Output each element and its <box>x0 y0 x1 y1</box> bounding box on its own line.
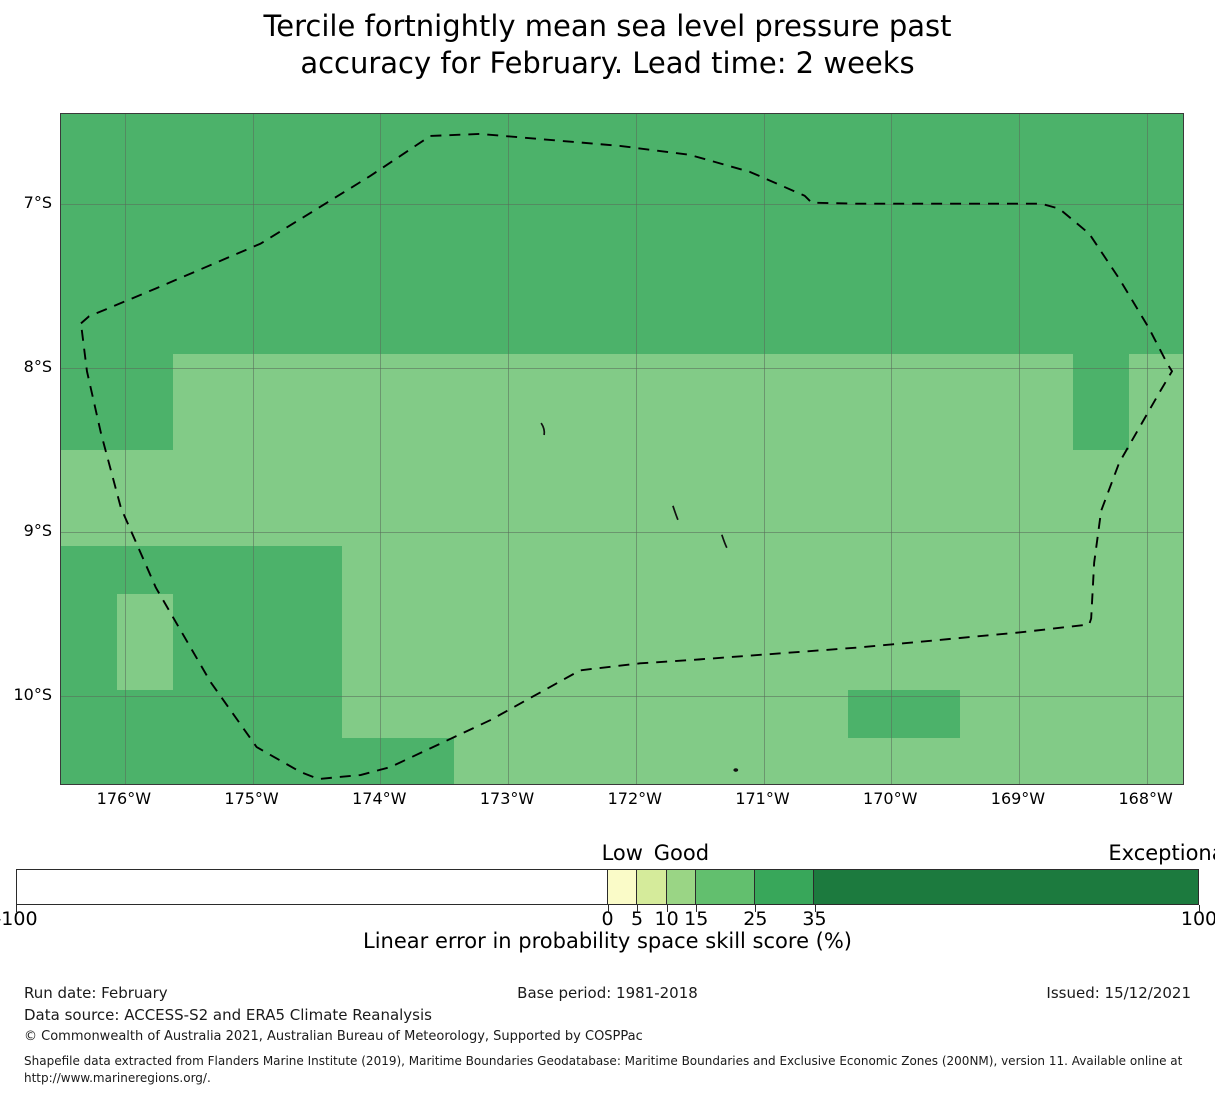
colorbar-axis-label: Linear error in probability space skill … <box>0 929 1215 953</box>
colorbar-segment <box>608 870 638 904</box>
colorbar-segment <box>696 870 755 904</box>
x-tick-label: 175°W <box>207 789 297 808</box>
island-coastline-1 <box>541 423 544 435</box>
copyright-text: © Commonwealth of Australia 2021, Austra… <box>24 1029 643 1044</box>
y-tick-label: 8°S <box>0 357 52 376</box>
colorbar-tick-mark <box>16 905 17 912</box>
colorbar-gradient <box>16 869 1199 905</box>
colorbar <box>16 869 1199 905</box>
title-line-1: Tercile fortnightly mean sea level press… <box>0 8 1215 45</box>
data-source-text: Data source: ACCESS-S2 and ERA5 Climate … <box>24 1006 432 1024</box>
x-tick-label: 174°W <box>334 789 424 808</box>
map-panel <box>60 113 1184 785</box>
colorbar-tick-mark <box>815 905 816 912</box>
colorbar-tick-mark <box>696 905 697 912</box>
x-tick-label: 176°W <box>79 789 169 808</box>
shapefile-attribution: Shapefile data extracted from Flanders M… <box>24 1053 1204 1087</box>
footer-row-2: Data source: ACCESS-S2 and ERA5 Climate … <box>0 1006 1215 1028</box>
colorbar-tick-label: 100 <box>1154 908 1215 930</box>
x-tick-label: 168°W <box>1101 789 1191 808</box>
eez-boundary-path <box>81 134 1172 779</box>
x-tick-label: 173°W <box>462 789 552 808</box>
colorbar-category-exceptional: Exceptional <box>1049 841 1215 865</box>
y-tick-label: 7°S <box>0 193 52 212</box>
colorbar-segment <box>755 870 814 904</box>
island-coastline-4 <box>733 768 738 772</box>
colorbar-tick-mark <box>1199 905 1200 912</box>
y-tick-label: 9°S <box>0 521 52 540</box>
issued-date-text: Issued: 15/12/2021 <box>1046 984 1191 1002</box>
x-tick-label: 170°W <box>845 789 935 808</box>
base-period-text: Base period: 1981-2018 <box>0 984 1215 1002</box>
colorbar-category-good: Good <box>561 841 801 865</box>
page-title: Tercile fortnightly mean sea level press… <box>0 8 1215 82</box>
colorbar-tick-mark <box>755 905 756 912</box>
y-tick-label: 10°S <box>0 685 52 704</box>
x-tick-label: 172°W <box>590 789 680 808</box>
colorbar-tick-label: -100 <box>0 908 61 930</box>
colorbar-segment <box>17 870 608 904</box>
island-coastline-3 <box>722 535 727 548</box>
colorbar-segment <box>814 870 1198 904</box>
island-coastline-2 <box>673 506 678 520</box>
colorbar-segment <box>667 870 697 904</box>
footer-row-1: Run date: February Base period: 1981-201… <box>0 984 1215 1006</box>
footer: Run date: February Base period: 1981-201… <box>0 984 1215 1028</box>
map-vector-overlay <box>61 114 1183 784</box>
x-tick-label: 171°W <box>718 789 808 808</box>
attribution-url: http://www.marineregions.org/. <box>24 1071 211 1085</box>
x-tick-label: 169°W <box>973 789 1063 808</box>
colorbar-segment <box>637 870 667 904</box>
title-line-2: accuracy for February. Lead time: 2 week… <box>0 45 1215 82</box>
attribution-line-1: Shapefile data extracted from Flanders M… <box>24 1054 1182 1068</box>
